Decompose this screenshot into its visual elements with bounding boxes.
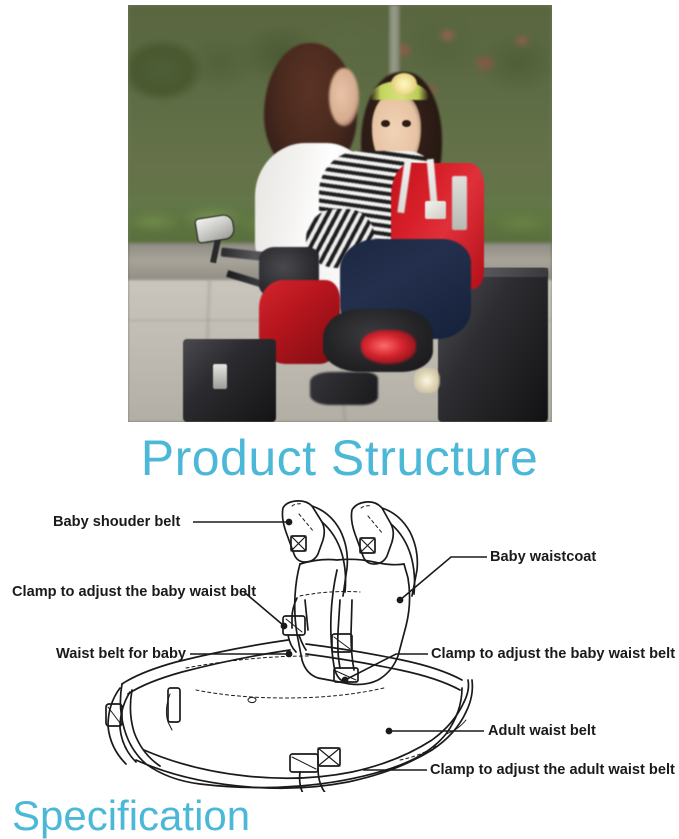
label-clamp-baby-waist-belt-left: Clamp to adjust the baby waist belt xyxy=(12,584,256,600)
label-adult-waist-belt: Adult waist belt xyxy=(488,723,596,739)
photo-rider-face xyxy=(329,68,359,126)
photo-turn-indicator xyxy=(414,368,439,393)
hero-product-photo xyxy=(128,5,552,422)
photo-left-case-latch xyxy=(213,364,227,389)
harness-line-art xyxy=(0,492,679,792)
leader-baby-waistcoat xyxy=(397,557,487,603)
page-title: Product Structure xyxy=(0,430,679,486)
label-baby-waistcoat: Baby waistcoat xyxy=(490,549,596,565)
next-section-heading: Specification xyxy=(12,793,250,839)
photo-child-eye-left xyxy=(381,120,390,127)
label-clamp-adult-waist-belt: Clamp to adjust the adult waist belt xyxy=(430,762,675,778)
photo-child-hair-flower xyxy=(391,73,417,95)
leader-baby-shoulder-belt xyxy=(193,519,292,524)
photo-vest-reflective-strip xyxy=(452,176,466,230)
photo-exhaust xyxy=(310,372,378,405)
leader-adult-waist-belt xyxy=(386,728,484,733)
label-clamp-baby-waist-belt-right: Clamp to adjust the baby waist belt xyxy=(431,646,675,662)
photo-vest-badge xyxy=(425,201,446,219)
photo-motorcycle-left-case xyxy=(183,339,276,422)
label-baby-shoulder-belt: Baby shouder belt xyxy=(53,514,180,530)
photo-taillight xyxy=(361,330,416,363)
label-waist-belt-for-baby: Waist belt for baby xyxy=(56,646,186,662)
photo-child-eye-right xyxy=(402,120,411,127)
product-structure-diagram: Baby shouder belt Baby waistcoat Clamp t… xyxy=(0,492,679,792)
shape-adult-waist-belt xyxy=(106,680,472,792)
shape-right-shoulder-strap xyxy=(351,502,417,596)
shape-left-shoulder-strap xyxy=(282,501,347,596)
